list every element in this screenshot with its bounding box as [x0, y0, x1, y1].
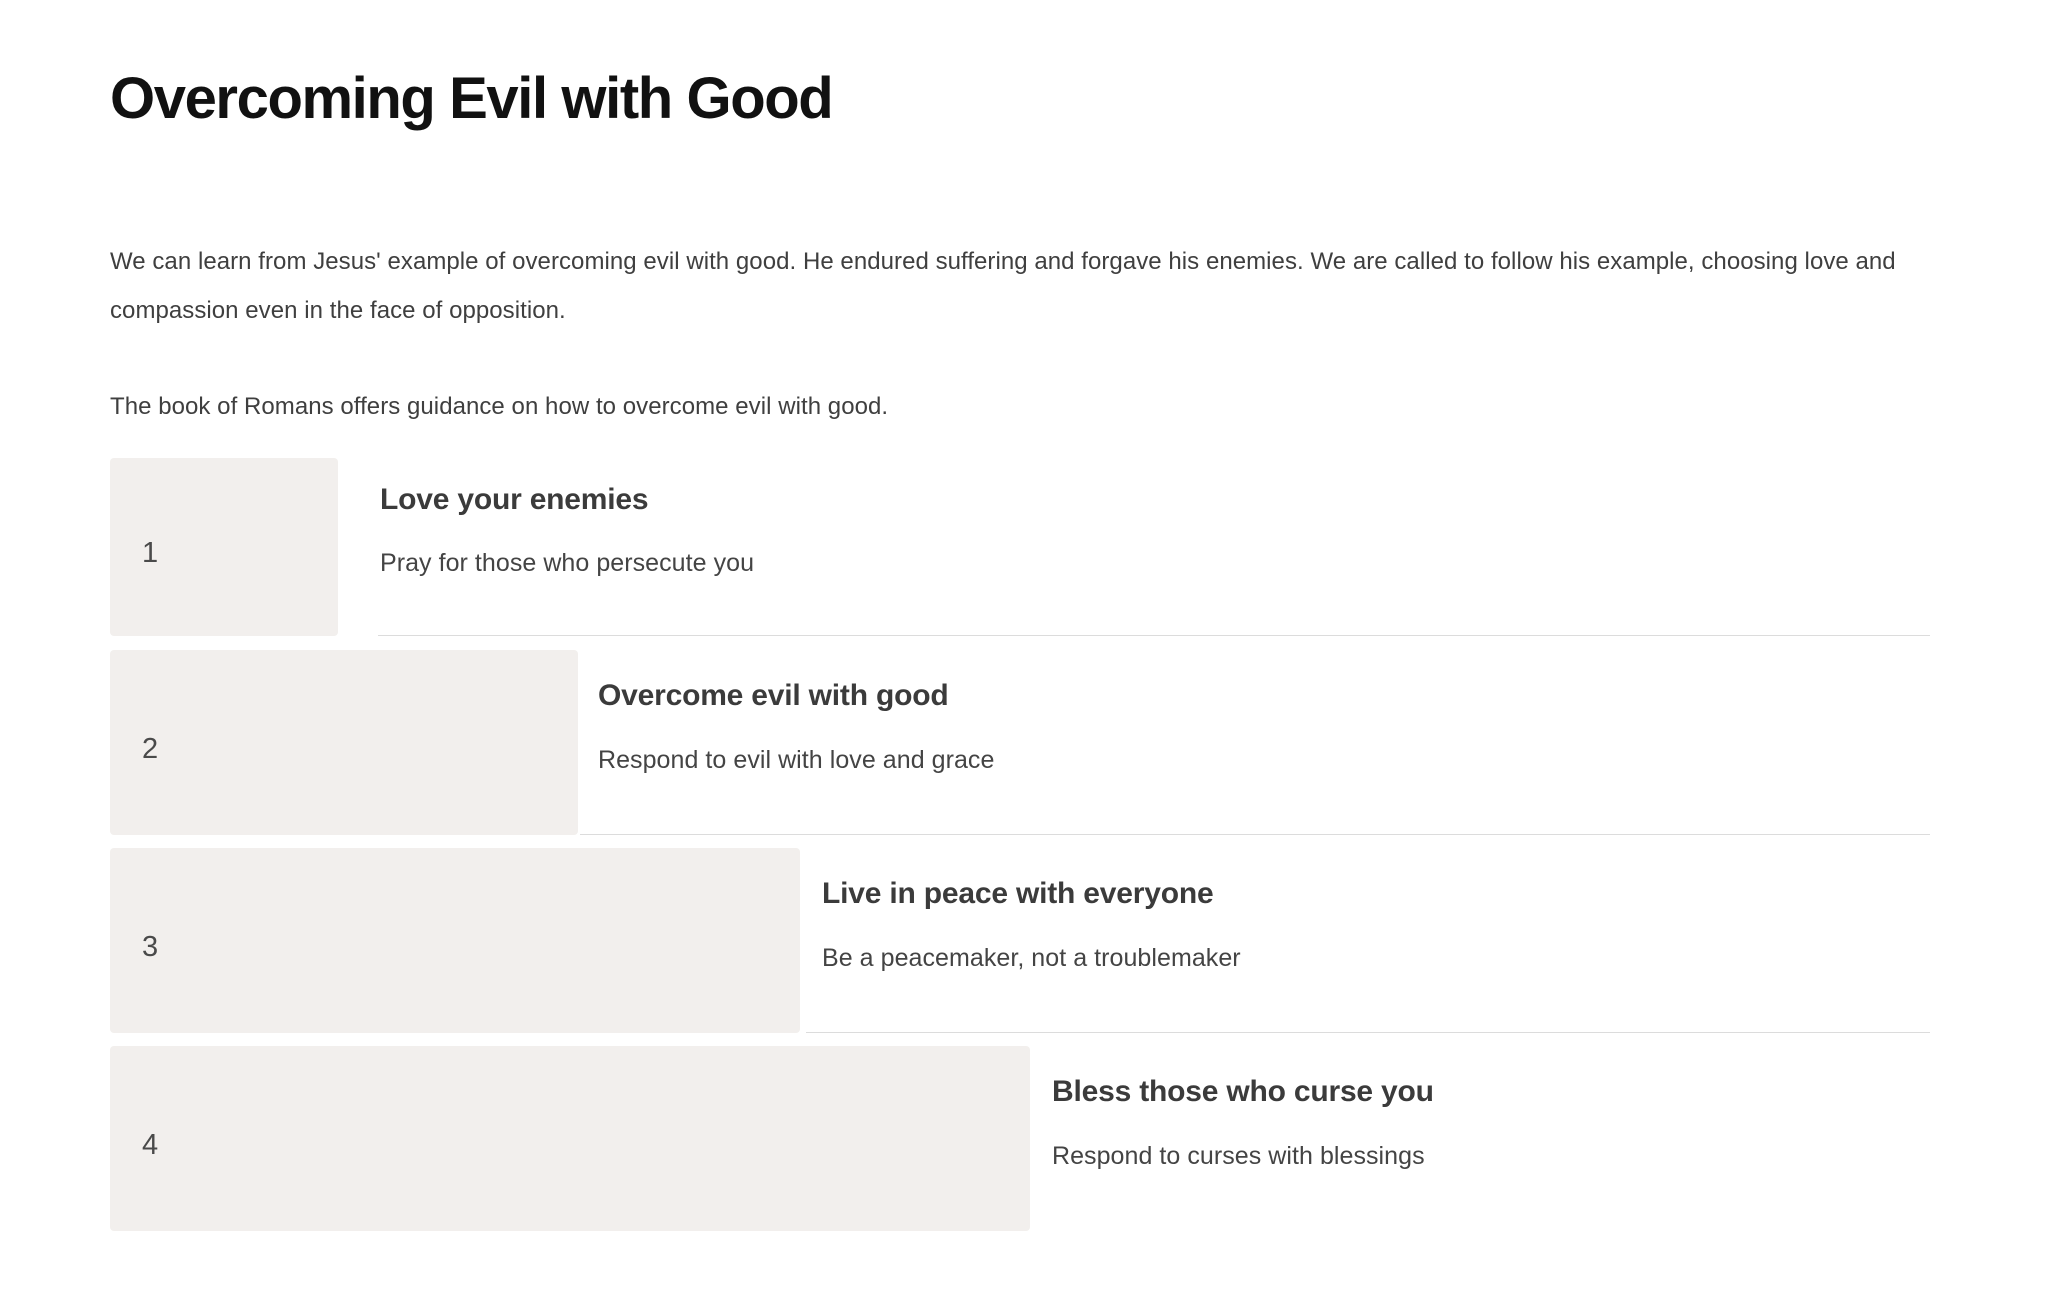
step-title: Overcome evil with good [598, 678, 948, 714]
row-divider [580, 834, 1930, 835]
step-bar [110, 1046, 1030, 1231]
step-bar [110, 848, 800, 1033]
step-title: Bless those who curse you [1052, 1074, 1434, 1110]
intro-paragraph-1: We can learn from Jesus' example of over… [110, 237, 1900, 335]
list-item[interactable]: 4 Bless those who curse you Respond to c… [110, 1046, 1930, 1241]
intro-paragraph-2: The book of Romans offers guidance on ho… [110, 382, 1910, 431]
step-subtitle: Respond to curses with blessings [1052, 1141, 1425, 1171]
step-number: 4 [142, 1131, 158, 1160]
list-item[interactable]: 2 Overcome evil with good Respond to evi… [110, 650, 1930, 848]
steps-list: 1 Love your enemies Pray for those who p… [110, 458, 1930, 1241]
step-title: Love your enemies [380, 482, 648, 518]
row-divider [806, 1032, 1930, 1033]
step-number: 2 [142, 735, 158, 764]
step-number: 1 [142, 539, 158, 568]
step-number: 3 [142, 933, 158, 962]
page-title: Overcoming Evil with Good [110, 62, 832, 136]
list-item[interactable]: 1 Love your enemies Pray for those who p… [110, 458, 1930, 650]
document-page: Overcoming Evil with Good We can learn f… [0, 0, 2048, 1297]
step-subtitle: Be a peacemaker, not a troublemaker [822, 943, 1241, 973]
list-item[interactable]: 3 Live in peace with everyone Be a peace… [110, 848, 1930, 1046]
row-divider [378, 635, 1930, 636]
step-subtitle: Respond to evil with love and grace [598, 745, 994, 775]
step-bar [110, 650, 578, 835]
step-subtitle: Pray for those who persecute you [380, 548, 754, 578]
step-title: Live in peace with everyone [822, 876, 1213, 912]
